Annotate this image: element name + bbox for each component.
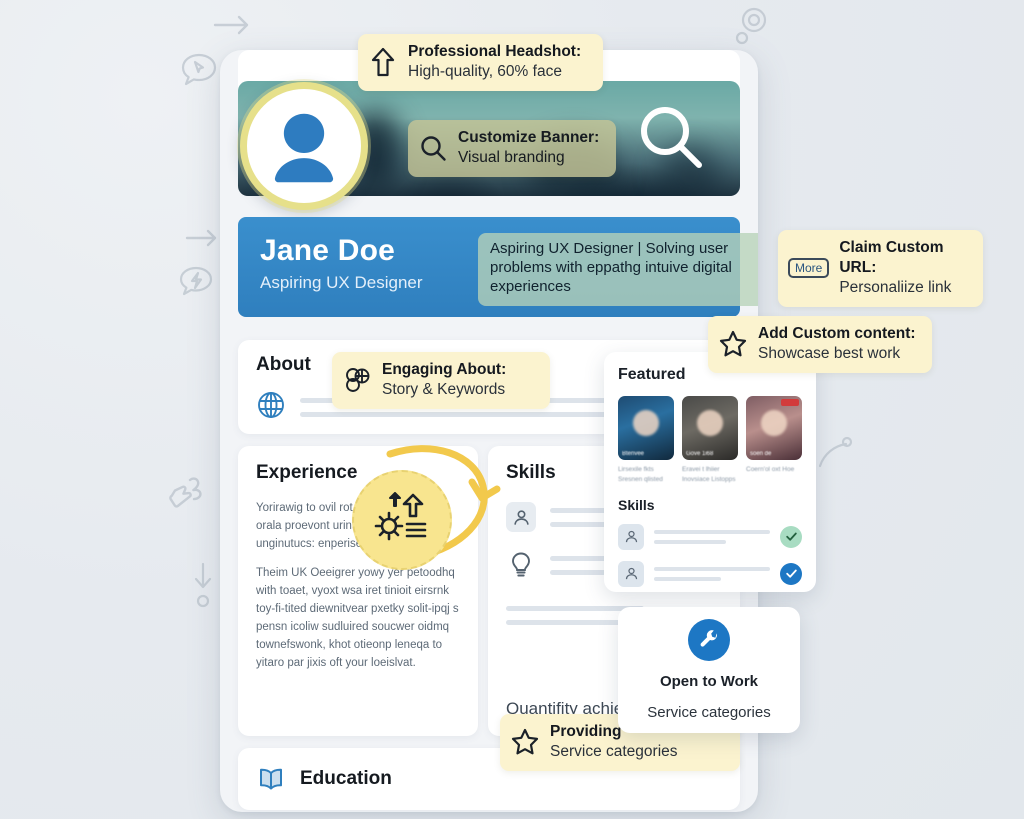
status-badge — [780, 526, 802, 548]
page-background: Jane Doe Aspiring UX Designer Aspiring U… — [0, 0, 1024, 819]
tip-customize-banner[interactable]: Customize Banner: Visual branding — [408, 120, 616, 177]
open-to-work-subtitle: Service categories — [628, 704, 790, 721]
live-badge — [781, 399, 799, 406]
tip-strong-label: Customize Banner: — [458, 129, 599, 146]
speech-bubble-cursor-icon — [178, 50, 220, 92]
list-item[interactable]: Gove 1i68 Eravei t lhiier Inovsiace List… — [682, 396, 738, 485]
star-icon — [510, 727, 540, 757]
magnifier-icon — [418, 133, 448, 163]
wrench-icon — [688, 619, 730, 661]
up-arrow-icon — [368, 47, 398, 77]
tip-strong-label: Providing — [550, 723, 621, 740]
tip-weak-label: Story & Keywords — [382, 381, 505, 398]
lightbulb-icon — [506, 550, 536, 580]
tip-claim-custom-url[interactable]: More Claim Custom URL: Personaliize link — [778, 230, 983, 307]
list-item[interactable]: soen de Coern'ol oxt Hoe — [746, 396, 802, 485]
identity-block: Jane Doe Aspiring UX Designer Aspiring U… — [238, 217, 740, 317]
tip-engaging-about[interactable]: Engaging About: Story & Keywords — [332, 352, 550, 409]
table-row[interactable] — [618, 561, 802, 587]
tip-strong-label: Add Custom content: — [758, 325, 916, 342]
thumbnail-subtitle: Lirsexile fkts Sresnen qlisted — [618, 465, 674, 485]
featured-thumbnail-list: Btenvee Lirsexile fkts Sresnen qlisted G… — [618, 396, 802, 485]
venn-circles-icon — [342, 365, 372, 395]
magnifier-icon — [636, 103, 706, 173]
tip-weak-label: Visual branding — [458, 149, 565, 166]
person-icon — [618, 524, 644, 550]
person-icon — [618, 561, 644, 587]
tip-professional-headshot[interactable]: Professional Headshot: High-quality, 60%… — [358, 34, 603, 91]
tip-weak-label: High-quality, 60% face — [408, 63, 562, 80]
thumbnail-caption: soen de — [750, 451, 798, 457]
table-row[interactable] — [618, 524, 802, 550]
book-icon — [256, 766, 286, 792]
open-to-work-panel[interactable]: Open to Work Service categories — [618, 607, 800, 733]
hand-like-icon — [166, 474, 210, 516]
thumbnail-subtitle: Eravei t lhiier Inovsiace Listopps — [682, 465, 738, 485]
featured-panel: Featured Btenvee Lirsexile fkts Sresnen … — [604, 352, 816, 592]
arrow-right-icon — [185, 228, 219, 248]
arrow-down-dot-icon — [190, 560, 216, 612]
dot-icon — [810, 430, 858, 478]
more-chip-icon[interactable]: More — [788, 258, 829, 278]
experience-paragraph: Theim UK Oeeigrer yowy yer petoodhq with… — [256, 565, 460, 672]
speech-bubble-lightning-icon — [176, 264, 216, 304]
globe-icon — [256, 390, 286, 425]
tip-weak-label: Service categories — [550, 743, 678, 760]
star-icon — [718, 329, 748, 359]
thumbnail-caption: Btenvee — [622, 451, 670, 457]
tip-strong-label: Engaging About: — [382, 361, 506, 378]
arrow-right-icon — [212, 14, 252, 36]
tip-weak-label: Showcase best work — [758, 345, 900, 362]
list-item[interactable]: Btenvee Lirsexile fkts Sresnen qlisted — [618, 396, 674, 485]
education-title: Education — [300, 768, 392, 790]
speech-bubble-target-icon — [732, 6, 774, 52]
status-badge — [780, 563, 802, 585]
thumbnail-subtitle: Coern'ol oxt Hoe — [746, 465, 802, 475]
tip-strong-label: Claim Custom URL: — [839, 239, 943, 276]
gear-with-up-arrows-icon — [352, 470, 452, 570]
avatar[interactable] — [240, 82, 368, 210]
tip-weak-label: Personaliize link — [839, 279, 951, 296]
profile-headline[interactable]: Aspiring UX Designer | Solving user prob… — [478, 233, 758, 306]
tip-add-custom-content[interactable]: Add Custom content: Showcase best work — [708, 316, 932, 373]
person-icon — [506, 502, 536, 532]
thumbnail-caption: Gove 1i68 — [686, 451, 734, 457]
person-avatar-icon — [261, 103, 347, 189]
tip-strong-label: Professional Headshot: — [408, 43, 581, 60]
featured-skills-title: Skills — [618, 497, 802, 513]
open-to-work-title: Open to Work — [628, 673, 790, 690]
